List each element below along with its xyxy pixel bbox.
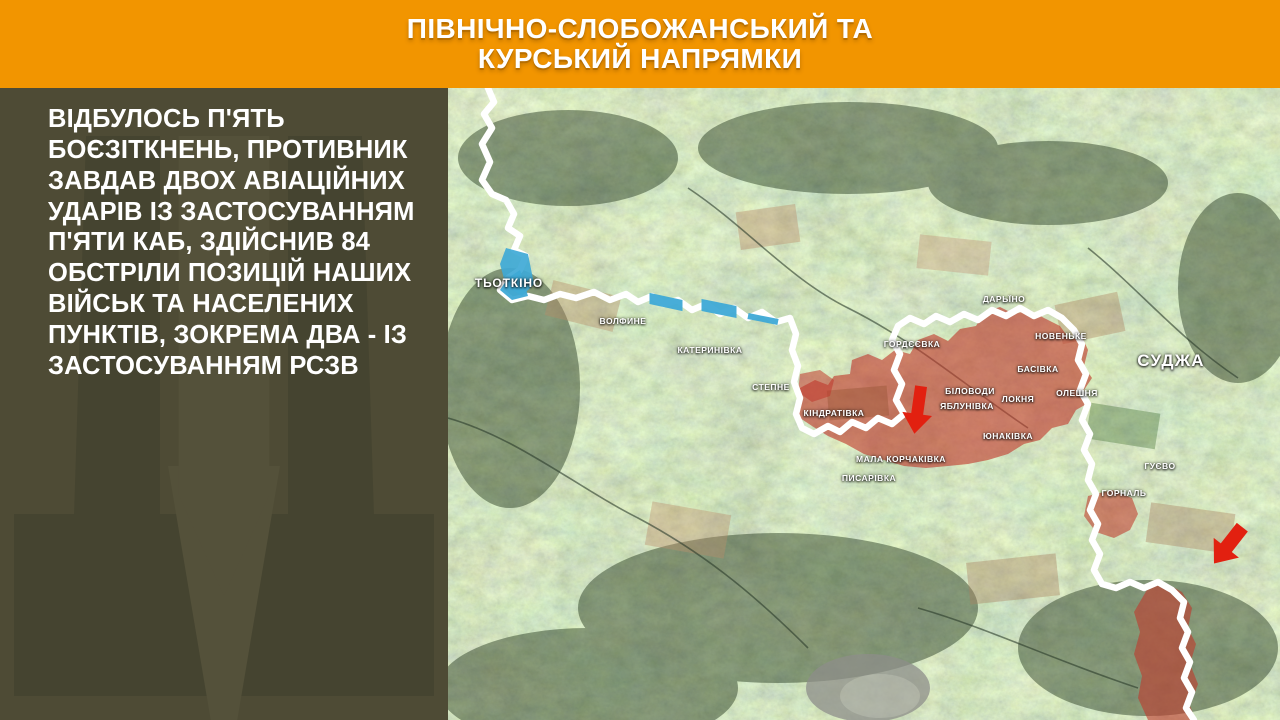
summary-panel: ВІДБУЛОСЬ П'ЯТЬ БОЄЗІТКНЕНЬ, ПРОТИВНИК З… (0, 88, 448, 720)
map-area[interactable]: ТЬОТКІНО ВОЛФИНЕ КАТЕРИНІВКА СТЕПНЕ КІНД… (448, 88, 1280, 720)
infographic-root: ПІВНІЧНО-СЛОБОЖАНСЬКИЙ ТА КУРСЬКИЙ НАПРЯ… (0, 0, 1280, 720)
header-title-line2: КУРСЬКИЙ НАПРЯМКИ (478, 44, 802, 74)
header-title-line1: ПІВНІЧНО-СЛОБОЖАНСЬКИЙ ТА (407, 14, 873, 44)
map-graphics (448, 88, 1280, 720)
summary-text: ВІДБУЛОСЬ П'ЯТЬ БОЄЗІТКНЕНЬ, ПРОТИВНИК З… (48, 104, 438, 382)
header-banner: ПІВНІЧНО-СЛОБОЖАНСЬКИЙ ТА КУРСЬКИЙ НАПРЯ… (0, 0, 1280, 88)
